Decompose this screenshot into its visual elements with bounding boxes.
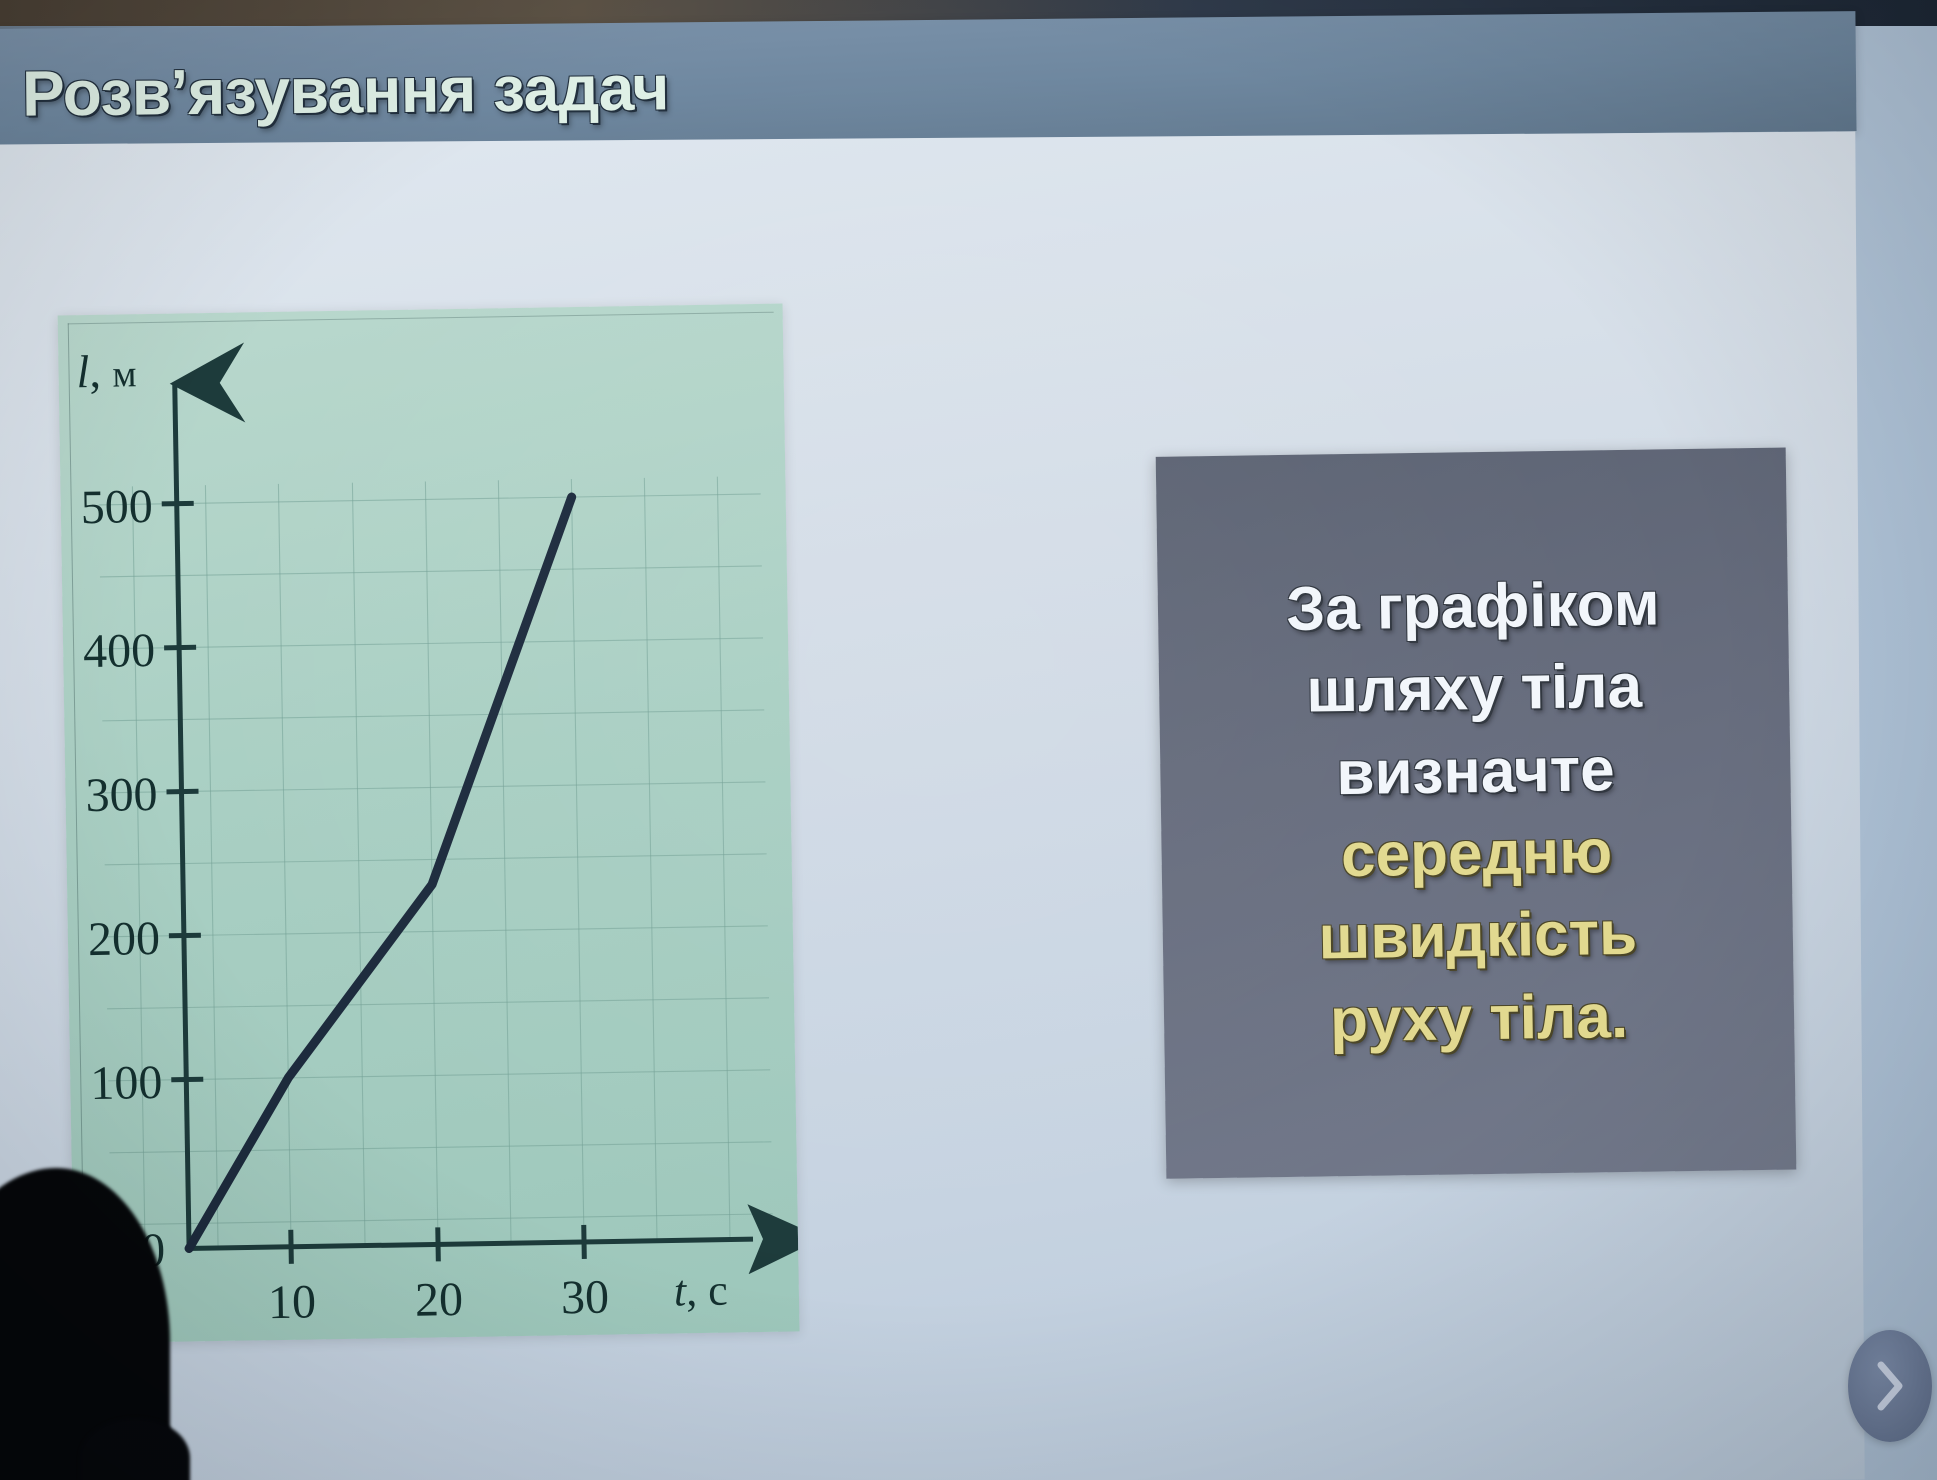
y-tick-label-500: 500 — [80, 480, 153, 534]
y-tick-label-100: 100 — [90, 1056, 163, 1110]
chevron-right-icon — [1873, 1359, 1907, 1413]
question-line-3: визначте — [1336, 729, 1615, 816]
question-line-2: шляху тіла — [1306, 646, 1643, 733]
question-line-4: середню — [1340, 811, 1612, 897]
graph-card: 500 400 300 200 100 0 10 20 30 l, м — [58, 304, 800, 1344]
x-tick-label-30: 30 — [561, 1271, 610, 1325]
question-line-5: швидкість — [1318, 893, 1638, 980]
question-line-6: руху тіла. — [1330, 976, 1629, 1063]
slide-body: 500 400 300 200 100 0 10 20 30 l, м — [0, 132, 1865, 1480]
x-tick-label-20: 20 — [415, 1273, 464, 1327]
question-line-1: За графіком — [1286, 563, 1661, 651]
y-axis — [175, 384, 189, 1249]
y-axis-label: l, м — [76, 345, 137, 397]
y-tick-label-400: 400 — [83, 624, 156, 678]
next-slide-button[interactable] — [1848, 1330, 1932, 1442]
distance-line-series — [177, 497, 584, 1248]
y-tick-label-200: 200 — [88, 912, 161, 966]
page-title: Розв’язування задач — [22, 50, 669, 130]
screenshot-root: Розв’язування задач — [0, 0, 1937, 1480]
x-tick-label-10: 10 — [268, 1275, 317, 1329]
distance-time-plot: 500 400 300 200 100 0 10 20 30 l, м — [58, 304, 800, 1344]
slide-title-banner: Розв’язування задач — [0, 11, 1857, 149]
question-card: За графіком шляху тіла визначте середню … — [1156, 448, 1797, 1179]
x-axis-label: t, c — [673, 1266, 728, 1316]
y-tick-label-300: 300 — [85, 768, 158, 822]
x-axis — [186, 1239, 753, 1248]
